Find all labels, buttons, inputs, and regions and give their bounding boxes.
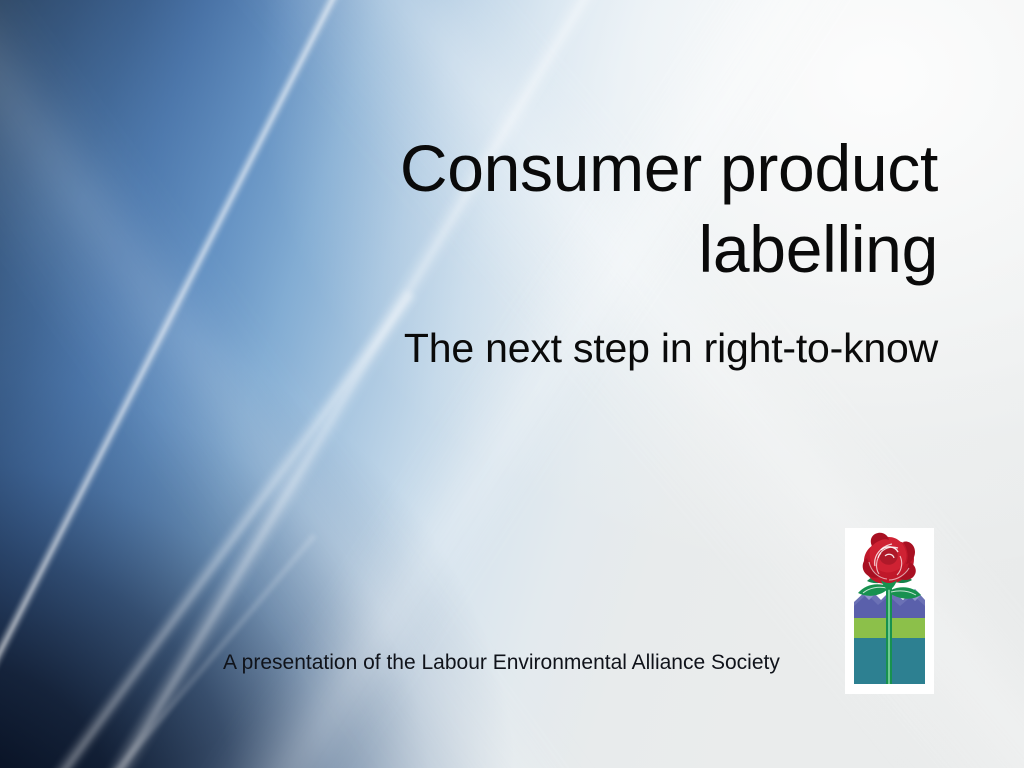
slide-title: Consumer product labelling: [260, 128, 938, 289]
rose-logo-icon: [845, 528, 934, 694]
organization-logo: [845, 528, 934, 694]
slide-footer-text: A presentation of the Labour Environment…: [223, 650, 863, 676]
slide-subtitle: The next step in right-to-know: [260, 324, 938, 373]
presentation-slide: Consumer product labelling The next step…: [0, 0, 1024, 768]
slide-subtitle-text: The next step in right-to-know: [260, 324, 938, 373]
slide-title-text: Consumer product labelling: [260, 128, 938, 289]
logo-stem: [886, 580, 892, 684]
slide-footer: A presentation of the Labour Environment…: [223, 650, 863, 676]
